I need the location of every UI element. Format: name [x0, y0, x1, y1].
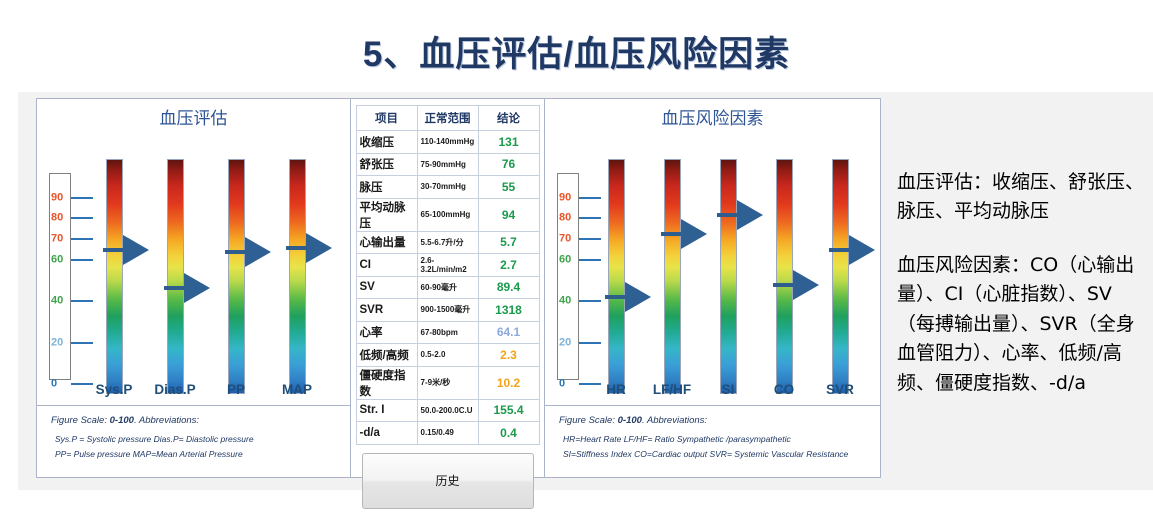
bp-risk-factor-panel: 血压风险因素 9080706040200HRLF/HFSICOSVR Figur… [545, 99, 880, 477]
axis-tick-line [71, 197, 93, 199]
table-row: 心输出量5.5-6.7升/分5.7 [356, 231, 539, 254]
table-cell-value: 2.3 [478, 344, 539, 367]
right-abbr-label: . Abbreviations: [642, 415, 707, 426]
table-cell-value: 76 [478, 153, 539, 176]
right-chart-ruler [557, 173, 579, 380]
table-cell-value: 131 [478, 131, 539, 154]
gauge-bar [720, 159, 737, 394]
gauge-category-label: CO [774, 382, 794, 397]
table-cell-value: 64.1 [478, 321, 539, 344]
table-row: 脉压30-70mmHg55 [356, 176, 539, 199]
table-cell-value: 89.4 [478, 276, 539, 299]
table-cell-range: 0.15/0.49 [417, 422, 478, 445]
gauge-bar [228, 159, 245, 394]
table-header-item: 项目 [356, 106, 417, 131]
table-cell-range: 900-1500毫升 [417, 299, 478, 322]
table-row: SV60-90毫升89.4 [356, 276, 539, 299]
axis-tick-label: 90 [51, 192, 63, 203]
gauge-marker-stem [225, 250, 247, 254]
left-abbr-label: . Abbreviations: [134, 415, 199, 426]
table-cell-range: 30-70mmHg [417, 176, 478, 199]
table-row: 低频/高频0.5-2.02.3 [356, 344, 539, 367]
right-scale-label: Figure Scale: [559, 415, 615, 426]
axis-tick-line [71, 259, 93, 261]
table-row: CI2.6-3.2L/min/m22.7 [356, 254, 539, 277]
table-cell-value: 94 [478, 198, 539, 231]
gauge-marker-arrow-icon [849, 235, 875, 265]
gauge-marker-stem [605, 295, 627, 299]
gauge-category-label: Sys.P [96, 382, 133, 397]
table-header-range: 正常范围 [417, 106, 478, 131]
table-cell-item: SV [356, 276, 417, 299]
right-footnote-heading: Figure Scale: 0-100. Abbreviations: [559, 415, 870, 426]
axis-tick-line [579, 217, 601, 219]
left-footnote-heading: Figure Scale: 0-100. Abbreviations: [51, 415, 340, 426]
table-cell-item: 低频/高频 [356, 344, 417, 367]
axis-tick-label: 20 [51, 337, 63, 348]
left-chart-title: 血压评估 [37, 99, 350, 129]
table-row: Str. I50.0-200.0C.U155.4 [356, 399, 539, 422]
left-footnote: Figure Scale: 0-100. Abbreviations: Sys.… [37, 405, 350, 477]
table-cell-range: 65-100mmHg [417, 198, 478, 231]
bp-evaluation-panel: 血压评估 9080706040200Sys.PDias.PPPMAP Figur… [37, 99, 351, 477]
right-chart-title: 血压风险因素 [545, 99, 880, 129]
gauge-category-label: LF/HF [653, 382, 691, 397]
axis-tick-line [579, 197, 601, 199]
gauge-category-label: MAP [282, 382, 312, 397]
axis-tick-line [579, 259, 601, 261]
report-panel: 血压评估 9080706040200Sys.PDias.PPPMAP Figur… [36, 98, 881, 478]
gauge-marker-arrow-icon [245, 237, 271, 267]
right-gauge-chart: 9080706040200HRLF/HFSICOSVR [545, 129, 880, 397]
gauge-marker-stem [717, 213, 739, 217]
right-footnote-line-2: SI=Stiffness Index CO=Cardiac output SVR… [563, 448, 870, 461]
table-cell-item: SVR [356, 299, 417, 322]
table-cell-item: 收缩压 [356, 131, 417, 154]
axis-tick-label: 20 [559, 337, 571, 348]
table-cell-range: 2.6-3.2L/min/m2 [417, 254, 478, 277]
gauge-marker-arrow-icon [123, 235, 149, 265]
gauge-category-label: HR [606, 382, 626, 397]
axis-tick-label: 40 [51, 296, 63, 307]
gauge-category-label: Dias.P [154, 382, 195, 397]
gauge-category-label: PP [227, 382, 245, 397]
gauge-marker-stem [829, 248, 851, 252]
gauge-marker-stem [103, 248, 125, 252]
table-cell-item: Str. I [356, 399, 417, 422]
table-cell-value: 155.4 [478, 399, 539, 422]
table-cell-range: 5.5-6.7升/分 [417, 231, 478, 254]
gauge-bar [289, 159, 306, 394]
commentary-paragraph-2: 血压风险因素：CO（心输出量）、CI（心脏指数）、SV（每搏输出量）、SVR（全… [897, 251, 1149, 398]
gauge-bar [832, 159, 849, 394]
axis-tick-line [579, 300, 601, 302]
table-row: SVR900-1500毫升1318 [356, 299, 539, 322]
axis-tick-label: 60 [559, 254, 571, 265]
table-cell-value: 10.2 [478, 366, 539, 399]
gauge-marker-arrow-icon [793, 270, 819, 300]
gauge-marker-arrow-icon [306, 233, 332, 263]
table-cell-range: 7-9米/秒 [417, 366, 478, 399]
results-table: 项目 正常范围 结论 收缩压110-140mmHg131舒张压75-90mmHg… [356, 105, 540, 445]
gauge-marker-stem [286, 246, 308, 250]
table-cell-item: 心率 [356, 321, 417, 344]
left-scale-label: Figure Scale: [51, 415, 107, 426]
axis-tick-label: 70 [51, 234, 63, 245]
commentary-paragraph-1: 血压评估：收缩压、舒张压、脉压、平均动脉压 [897, 168, 1149, 227]
left-footnote-line-2: PP= Pulse pressure MAP=Mean Arterial Pre… [55, 448, 340, 461]
table-header-row: 项目 正常范围 结论 [356, 106, 539, 131]
page-title: 5、血压评估/血压风险因素 [0, 26, 1153, 77]
table-row: -d/a0.15/0.490.4 [356, 422, 539, 445]
table-cell-range: 60-90毫升 [417, 276, 478, 299]
commentary-text: 血压评估：收缩压、舒张压、脉压、平均动脉压 血压风险因素：CO（心输出量）、CI… [897, 168, 1149, 398]
gauge-marker-arrow-icon [184, 273, 210, 303]
history-button[interactable]: 历史 [362, 453, 534, 509]
table-cell-item: 心输出量 [356, 231, 417, 254]
table-cell-range: 0.5-2.0 [417, 344, 478, 367]
table-cell-value: 0.4 [478, 422, 539, 445]
right-footnote: Figure Scale: 0-100. Abbreviations: HR=H… [545, 405, 880, 477]
left-scale-value: 0-100 [110, 415, 134, 426]
table-header-value: 结论 [478, 106, 539, 131]
right-scale-value: 0-100 [618, 415, 642, 426]
table-row: 舒张压75-90mmHg76 [356, 153, 539, 176]
table-cell-range: 67-80bpm [417, 321, 478, 344]
table-cell-value: 5.7 [478, 231, 539, 254]
table-cell-item: 舒张压 [356, 153, 417, 176]
axis-tick-label: 40 [559, 296, 571, 307]
left-footnote-line-1: Sys.P = Systolic pressure Dias.P= Diasto… [55, 433, 340, 446]
right-footnote-line-1: HR=Heart Rate LF/HF= Ratio Sympathetic /… [563, 433, 870, 446]
gauge-bar [106, 159, 123, 394]
axis-tick-line [71, 217, 93, 219]
table-row: 僵硬度指数7-9米/秒10.2 [356, 366, 539, 399]
gauge-marker-arrow-icon [737, 200, 763, 230]
left-chart-ruler [49, 173, 71, 380]
table-cell-item: 僵硬度指数 [356, 366, 417, 399]
axis-tick-line [579, 238, 601, 240]
axis-tick-label: 80 [51, 213, 63, 224]
axis-tick-line [71, 300, 93, 302]
table-cell-range: 50.0-200.0C.U [417, 399, 478, 422]
table-cell-value: 55 [478, 176, 539, 199]
gauge-marker-arrow-icon [681, 219, 707, 249]
table-cell-item: 脉压 [356, 176, 417, 199]
gauge-bar [776, 159, 793, 394]
left-gauge-chart: 9080706040200Sys.PDias.PPPMAP [37, 129, 350, 397]
axis-tick-label: 70 [559, 234, 571, 245]
axis-tick-label: 0 [559, 379, 565, 390]
gauge-category-label: SI [722, 382, 735, 397]
table-cell-item: -d/a [356, 422, 417, 445]
axis-tick-label: 90 [559, 192, 571, 203]
gauge-marker-arrow-icon [625, 282, 651, 312]
gauge-category-label: SVR [826, 382, 854, 397]
axis-tick-line [579, 342, 601, 344]
table-row: 收缩压110-140mmHg131 [356, 131, 539, 154]
axis-tick-label: 80 [559, 213, 571, 224]
axis-tick-label: 0 [51, 379, 57, 390]
gauge-bar [167, 159, 184, 394]
table-cell-range: 110-140mmHg [417, 131, 478, 154]
table-cell-item: CI [356, 254, 417, 277]
gauge-bar [664, 159, 681, 394]
gauge-marker-stem [661, 232, 683, 236]
axis-tick-line [71, 342, 93, 344]
axis-tick-line [71, 238, 93, 240]
axis-tick-label: 60 [51, 254, 63, 265]
gauge-marker-stem [164, 286, 186, 290]
table-cell-value: 1318 [478, 299, 539, 322]
axis-tick-line [71, 383, 93, 385]
table-row: 平均动脉压65-100mmHg94 [356, 198, 539, 231]
table-row: 心率67-80bpm64.1 [356, 321, 539, 344]
table-cell-value: 2.7 [478, 254, 539, 277]
gauge-marker-stem [773, 283, 795, 287]
table-cell-item: 平均动脉压 [356, 198, 417, 231]
results-table-panel: 项目 正常范围 结论 收缩压110-140mmHg131舒张压75-90mmHg… [351, 99, 545, 477]
axis-tick-line [579, 383, 601, 385]
table-cell-range: 75-90mmHg [417, 153, 478, 176]
gauge-bar [608, 159, 625, 394]
